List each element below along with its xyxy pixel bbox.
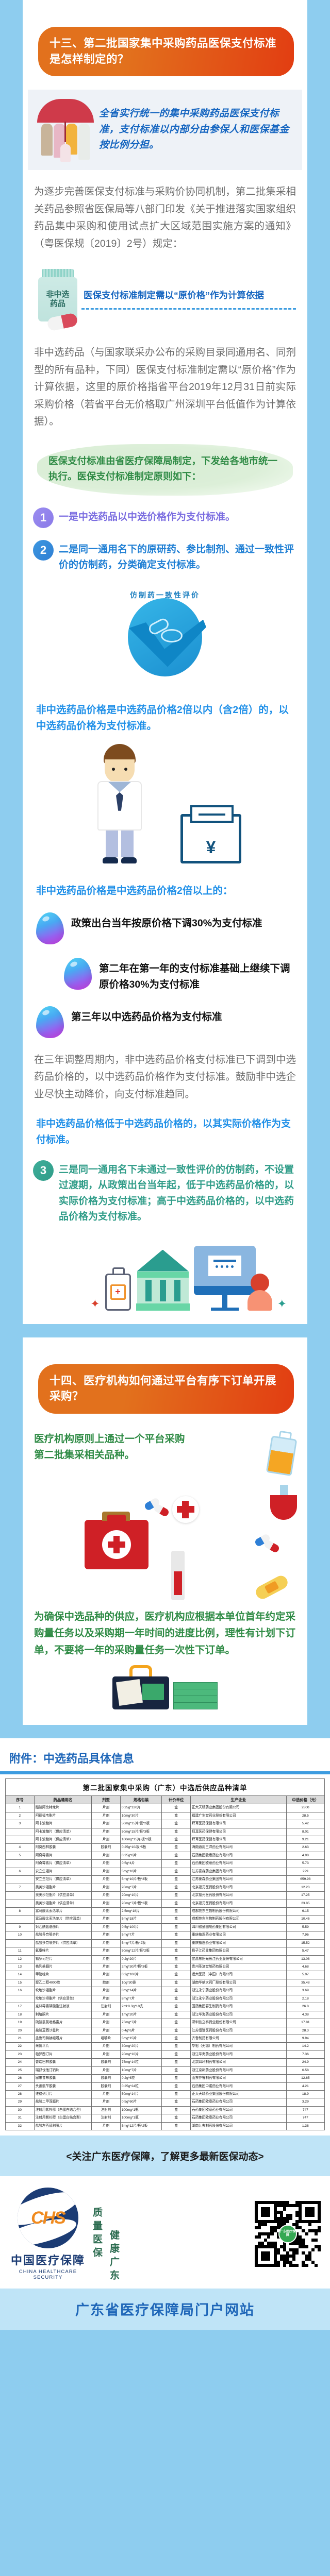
table-cell: 安立生坦片 xyxy=(34,1868,91,1875)
table-cell: 盐酸莫西沙星片 xyxy=(34,2027,91,2035)
briefcase-money-illustration xyxy=(23,1662,307,1725)
table-cell: 盒 xyxy=(162,2035,191,2042)
table-cell: 4.98 xyxy=(286,1852,324,1859)
table-cell: 对乙酰氨基酚片 xyxy=(34,1923,91,1931)
table-cell: 片剂 xyxy=(92,1884,121,1891)
money-stack-icon xyxy=(173,1683,218,1709)
table-cell: 深圳信立泰药业股份有限公司 xyxy=(190,2019,286,2027)
table-cell: 片剂 xyxy=(92,1916,121,1923)
table-cell: 30mg*20片 xyxy=(120,2043,161,2050)
table-cell: 0.4g*6片 xyxy=(120,2027,161,2035)
table-cell: 75mg*14粒 xyxy=(120,2059,161,2066)
qr-center-label: 广东医疗保障 xyxy=(278,2225,297,2243)
table-cell: 盒 xyxy=(162,1916,191,1923)
table-cell: 盒 xyxy=(162,1931,191,1939)
table-cell: 30 xyxy=(6,2106,35,2114)
table-cell: 24.9 xyxy=(286,2059,324,2066)
sparkle-icon: ✦ xyxy=(277,1297,287,1311)
egg-bullet-icon xyxy=(36,1006,64,1038)
table-cell: 米氮平片 xyxy=(34,2043,91,2050)
family-umbrella-illustration xyxy=(32,99,99,161)
bottle-callout-text: 医保支付标准制定需以“原价格”作为计算依据 xyxy=(81,289,296,302)
drug-table-col-header: 规格包装 xyxy=(120,1795,161,1804)
table-cell: 注射剂 xyxy=(92,2003,121,2011)
table-cell: 14 xyxy=(6,1971,35,1979)
table-cell: 23 xyxy=(6,2050,35,2058)
table-cell: 0.2g*100片 xyxy=(120,1971,161,1979)
table-row: 12福多司坦片片剂0.2g*20片盒宜昌东阳光长江药业股份有限公司13.08 xyxy=(6,1955,325,1963)
table-cell: 31 xyxy=(6,2114,35,2122)
table-cell: 浙江永宁药业股份有限公司 xyxy=(190,1987,286,1995)
table-cell xyxy=(6,1828,35,1836)
egg-bullet-icon xyxy=(36,912,64,944)
table-cell: 5 xyxy=(6,1852,35,1859)
table-cell: 盒 xyxy=(162,2019,191,2027)
table-cell xyxy=(6,1836,35,1844)
table-row: 26塞来昔布胶囊胶囊剂0.2g*6粒盒山东齐鲁制药有限公司12.65 xyxy=(6,2075,325,2082)
table-cell: 盐酸二甲双胍片 xyxy=(34,2098,91,2106)
table-cell: 盒 xyxy=(162,1844,191,1852)
table-cell xyxy=(6,1900,35,1907)
table-cell: 20mg*7片 xyxy=(120,1884,161,1891)
table-cell: 9.21 xyxy=(286,1836,324,1844)
table-cell: 0.25g*6片 xyxy=(120,1852,161,1859)
briefcase-icon xyxy=(112,1665,169,1709)
table-cell: 12.23 xyxy=(286,1884,324,1891)
table-cell: 片剂 xyxy=(92,1804,121,1812)
table-cell: 25 xyxy=(6,2066,35,2074)
table-cell: 北京福元医药股份有限公司 xyxy=(190,1900,286,1907)
table-cell: 盒 xyxy=(162,1876,191,1884)
table-cell: 盒 xyxy=(162,1884,191,1891)
table-cell: 片剂 xyxy=(92,2050,121,2058)
government-platform-illustration: ✦ + ✦ xyxy=(23,1236,307,1324)
table-row: 7奥美沙坦酯片片剂20mg*7片盒北京福元医药股份有限公司12.23 xyxy=(6,1884,325,1891)
table-cell: 28.3 xyxy=(286,2027,324,2035)
table-cell: 瑞舒伐他汀钙片 xyxy=(34,2066,91,2074)
table-row: 31注射用紫杉醇（白蛋白结合型）注射剂100mg*1瓶盒石药集团欧意药业有限公司… xyxy=(6,2114,325,2122)
table-row: 28维格列汀片片剂50mg*14片盒正大天晴药业集团股份有限公司18.9 xyxy=(6,2091,325,2098)
consistency-evaluation-badge-wrap: 仿制药一致性评价 xyxy=(23,585,307,692)
table-cell: 4.38 xyxy=(286,2011,324,2019)
table-cell: 50mg*15片/板*2板 xyxy=(120,1820,161,1828)
table-cell: 石药集团欧意药业有限公司 xyxy=(190,2114,286,2122)
consistency-evaluation-icon: 仿制药一致性评价 xyxy=(120,590,210,681)
drug-table-header-row: 序号药品通用名剂型规格包装计价单位生产企业中选价格（元） xyxy=(6,1795,325,1804)
table-cell: 10 xyxy=(6,1931,35,1939)
table-cell: 19 xyxy=(6,2019,35,2027)
table-row: 18利培酮片片剂1mg*20片盒浙江华海药业股份有限公司4.38 xyxy=(6,2011,325,2019)
table-cell: 盒 xyxy=(162,1947,191,1955)
table-cell: 片剂 xyxy=(92,1852,121,1859)
table-cell: 远大医药（中国）有限公司 xyxy=(190,1971,286,1979)
table-cell: 山东齐鲁制药有限公司 xyxy=(190,2075,286,2082)
table-row: 20盐酸莫西沙星片片剂0.4g*6片盒江苏恒瑞医药股份有限公司28.3 xyxy=(6,2027,325,2035)
table-cell xyxy=(6,1939,35,1947)
table-cell: 维格列汀片 xyxy=(34,2091,91,2098)
table-cell: 江苏豪森药业集团有限公司 xyxy=(190,1868,286,1875)
table-cell: 聚乙二醇4000散 xyxy=(34,1979,91,1987)
table-cell: 5mg*10片 xyxy=(120,1868,161,1875)
table-cell: 阿奇霉素片 xyxy=(34,1852,91,1859)
table-cell xyxy=(6,1876,35,1884)
table-cell: 阿卡波糖片 xyxy=(34,1820,91,1828)
table-cell xyxy=(6,1995,35,2003)
government-building-icon xyxy=(137,1250,189,1311)
table-row: 25瑞舒伐他汀钙片片剂10mg*7片盒浙江京新药业股份有限公司6.58 xyxy=(6,2066,325,2074)
table-row: 24普瑞巴林胶囊胶囊剂75mg*14粒盒北京四环制药有限公司24.9 xyxy=(6,2059,325,2066)
table-cell: 盒 xyxy=(162,1820,191,1828)
table-cell: 片剂 xyxy=(92,2066,121,2074)
egg-bullet-2-text: 第二年在第一年的支付标准基础上继续下调原价格30%为支付标准 xyxy=(99,958,294,993)
table-cell: 坎地沙坦酯片 xyxy=(34,1987,91,1995)
table-cell: 石药集团欧意药业有限公司 xyxy=(190,2098,286,2106)
table-row: 8富马酸比索洛尔片片剂2.5mg*18片盒成都苑东生物制药股份有限公司6.15 xyxy=(6,1907,325,1915)
egg-bullet-3-text: 第三年以中选药品价格为支付标准 xyxy=(71,1006,222,1025)
table-cell: 片剂 xyxy=(92,1995,121,2003)
table-cell: 20mg*10片 xyxy=(120,2050,161,2058)
section-14-heading-wrap: 十四、医疗机构如何通过平台有序下订单开展采购？ xyxy=(23,1351,307,1414)
table-cell: 10mg*30片 xyxy=(120,1812,161,1820)
table-cell: 海南通用三洋药业有限公司 xyxy=(190,1844,286,1852)
table-row: 奥美沙坦酯片（供应清单）片剂20mg*7片/板*2板盒北京福元医药股份有限公司2… xyxy=(6,1900,325,1907)
table-cell: 20 xyxy=(6,2027,35,2035)
table-cell: 9.94 xyxy=(286,2035,324,2042)
attachment-section: 附件：中选药品具体信息 第二批国家集中采购（广东）中选后供应品种清单 序号药品通… xyxy=(0,1738,330,2136)
table-cell: 盒 xyxy=(162,2082,191,2090)
table-cell: 阿莫西林胶囊 xyxy=(34,1844,91,1852)
table-cell: 盒 xyxy=(162,1900,191,1907)
chs-logo: CHS 中国医疗保障 CHINA HEALTHCARE SECURITY xyxy=(9,2188,87,2280)
medical-supplies-illustration xyxy=(23,1475,307,1603)
drug-table-col-header: 药品通用名 xyxy=(34,1795,91,1804)
egg-bullet-3: 第三年以中选药品价格为支付标准 xyxy=(23,1006,307,1038)
table-cell: 拜耳医药保健有限公司 xyxy=(190,1836,286,1844)
rule-3-number: 3 xyxy=(33,1160,54,1181)
table-cell: 盒 xyxy=(162,1892,191,1900)
table-cell: 成都苑东生物制药股份有限公司 xyxy=(190,1907,286,1915)
table-row: 14甲硝唑片片剂0.2g*100片盒远大医药（中国）有限公司5.07 xyxy=(6,1971,325,1979)
table-cell: 5.73 xyxy=(286,1860,324,1868)
table-cell: 6.58 xyxy=(286,2066,324,2074)
table-cell: 注射剂 xyxy=(92,2114,121,2122)
drug-table-caption: 第二批国家集中采购（广东）中选后供应品种清单 xyxy=(5,1778,325,1795)
table-cell: 26 xyxy=(6,2075,35,2082)
slogan-health: 健康广东 xyxy=(107,2230,121,2283)
table-cell: 23.85 xyxy=(286,1900,324,1907)
section-13-heading-wrap: 十三、第二批国家集中采购药品医保支付标准是怎样制定的？ xyxy=(23,13,307,76)
dashed-connector xyxy=(81,308,296,310)
user-avatar-icon xyxy=(247,1274,272,1311)
rule-1-text: 一是中选药品以中选价格作为支付标准。 xyxy=(59,507,235,525)
table-cell: 15 xyxy=(6,1979,35,1987)
table-cell: 拜耳医药保健有限公司 xyxy=(190,1828,286,1836)
table-cell: 747 xyxy=(286,2106,324,2114)
table-cell: 29 xyxy=(6,2098,35,2106)
table-cell: 奥美沙坦酯片（供应清单） xyxy=(34,1892,91,1900)
table-cell: 盒 xyxy=(162,1828,191,1836)
table-cell: 阿卡波糖片（供应清单） xyxy=(34,1836,91,1844)
table-cell: 坎地沙坦酯片（供应清单） xyxy=(34,1995,91,2003)
table-cell: 盒 xyxy=(162,2011,191,2019)
table-cell: 奥美沙坦酯片 xyxy=(34,1884,91,1891)
table-row: 32盐酸左西替利嗪片片剂5mg*12片/板*2板盒湖南九典制药股份有限公司1.3… xyxy=(6,2122,325,2130)
rule-item-3: 3 三是同一通用名下未通过一致性评价的仿制药，不设置过渡期，从政策出台当年起，低… xyxy=(23,1160,307,1225)
table-cell: 20mg*7片/板*2板 xyxy=(120,1900,161,1907)
table-cell: 4 xyxy=(6,1844,35,1852)
table-cell: 片剂 xyxy=(92,1931,121,1939)
table-cell: 片剂 xyxy=(92,1939,121,1947)
table-cell: 正大天晴药业集团股份有限公司 xyxy=(190,1804,286,1812)
section-14-intro-text: 医疗机构原则上通过一个平台采购第二批集采相关品种。 xyxy=(34,1431,189,1464)
table-cell: 胶囊剂 xyxy=(92,2082,121,2090)
table-cell: 16 xyxy=(6,1987,35,1995)
table-cell: 4.21 xyxy=(286,2082,324,2090)
drug-table-col-header: 生产企业 xyxy=(190,1795,286,1804)
table-cell: 重庆植恩药业有限公司 xyxy=(190,1939,286,1947)
drug-vial-icon xyxy=(266,1429,300,1476)
table-row: 30注射用紫杉醇（白蛋白结合型）注射剂100mg*1瓶盒石药集团欧意药业有限公司… xyxy=(6,2106,325,2114)
table-cell: 注射剂 xyxy=(92,2106,121,2114)
table-cell: 片剂 xyxy=(92,1900,121,1907)
table-cell: 咀嚼片 xyxy=(92,2035,121,2042)
table-cell: 石药集团欧意药业有限公司 xyxy=(190,1852,286,1859)
table-cell: 醋酸阿比特龙片 xyxy=(34,1804,91,1812)
table-row: 3阿卡波糖片片剂50mg*15片/板*2板盒拜耳医药保健有限公司5.42 xyxy=(6,1820,325,1828)
table-cell: 35.48 xyxy=(286,1979,324,1987)
table-cell: 75mg*7片 xyxy=(120,2019,161,2027)
pill-bottle-icon: 非中选 药品 xyxy=(34,269,81,329)
table-cell: 胶囊剂 xyxy=(92,2059,121,2066)
child-figure xyxy=(60,144,71,162)
syringe-icon xyxy=(171,1551,185,1600)
table-row: 4阿莫西林胶囊胶囊剂0.25g*10/板*5板盒海南通用三洋药业有限公司2.63 xyxy=(6,1844,325,1852)
table-cell: 片剂 xyxy=(92,1892,121,1900)
table-row: 17克林霉素磷酸酯注射液注射剂2ml:0.3g*10支盒国药集团容生制药有限公司… xyxy=(6,2003,325,2011)
section-13-paragraph-2: 非中选药品（与国家联采办公布的采购目录同通用名、同剂型的所有品种，下同）医保支付… xyxy=(23,344,307,431)
table-cell xyxy=(6,1916,35,1923)
table-cell: 27 xyxy=(6,2082,35,2090)
table-cell: 片剂 xyxy=(92,1876,121,1884)
table-cell: 浙江华海药业股份有限公司 xyxy=(190,2050,286,2058)
table-cell: 湖南华纳大药厂股份有限公司 xyxy=(190,1979,286,1987)
table-cell: 片剂 xyxy=(92,1987,121,1995)
table-cell: 盒 xyxy=(162,1971,191,1979)
table-cell: 0.25g*10/板*5板 xyxy=(120,1844,161,1852)
table-cell: 格列美脲片 xyxy=(34,1963,91,1971)
chs-logo-en-text: CHINA HEALTHCARE SECURITY xyxy=(9,2269,87,2280)
table-cell: 克林霉素磷酸酯注射液 xyxy=(34,2003,91,2011)
table-cell: 32 xyxy=(6,2122,35,2130)
table-cell: 盒 xyxy=(162,2027,191,2035)
table-cell: 盒 xyxy=(162,2066,191,2074)
table-cell: 氟康唑片 xyxy=(34,1947,91,1955)
table-cell: 20mg*10片 xyxy=(120,1892,161,1900)
section-13-card: 十三、第二批国家集中采购药品医保支付标准是怎样制定的？ 全省实行统一的集中采购药… xyxy=(23,0,307,1324)
table-cell: 头孢氨苄胶囊 xyxy=(34,2082,91,2090)
table-cell: 盐酸多奈哌齐片 xyxy=(34,1931,91,1939)
infographic-page: 十三、第二批国家集中采购药品医保支付标准是怎样制定的？ 全省实行统一的集中采购药… xyxy=(0,0,330,2330)
bottle-label-line1: 非中选 xyxy=(46,290,69,299)
chs-globe-icon: CHS xyxy=(18,2188,78,2248)
table-cell: 盒 xyxy=(162,1995,191,2003)
egg-bullet-1: 政策出台当年按原价格下调30%为支付标准 xyxy=(23,912,307,944)
section-13-intro-band: 全省实行统一的集中采购药品医保支付标准，支付标准以内部分由参保人和医保基金按比例… xyxy=(28,90,302,170)
table-cell: 片剂 xyxy=(92,1971,121,1979)
table-cell: 18.9 xyxy=(286,2091,324,2098)
table-cell: 0.25g*24粒 xyxy=(120,2082,161,2090)
table-cell: 利培酮片 xyxy=(34,2011,91,2019)
capsule-pills-icon xyxy=(255,1536,282,1555)
table-cell: 10g*30袋 xyxy=(120,1979,161,1987)
bandage-icon xyxy=(254,1573,290,1601)
table-cell: 0.5g*60片 xyxy=(120,2098,161,2106)
table-cell: 奥美沙坦酯片（供应清单） xyxy=(34,1900,91,1907)
table-cell: 浙江华海药业股份有限公司 xyxy=(190,2011,286,2019)
table-row: 阿奇霉素片（供应清单）片剂0.5g*4片盒石药集团欧意药业有限公司5.73 xyxy=(6,1860,325,1868)
table-cell: 5mg*7片/板*2板 xyxy=(120,1939,161,1947)
section-14-card: 十四、医疗机构如何通过平台有序下订单开展采购？ 医疗机构原则上通过一个平台采购第… xyxy=(23,1337,307,1725)
table-cell: 盒 xyxy=(162,2050,191,2058)
table-row: 阿卡波糖片（供应清单）片剂100mg*15片/板*2板盒拜耳医药保健有限公司9.… xyxy=(6,1836,325,1844)
table-cell: 拜耳医药保健有限公司 xyxy=(190,1820,286,1828)
table-cell: 5mg*18片 xyxy=(120,1916,161,1923)
table-row: 22米氮平片片剂30mg*20片盒华裕（无锡）制药有限公司14.2 xyxy=(6,2043,325,2050)
bottle-label-line2: 药品 xyxy=(50,299,65,309)
egg-bullet-2: 第二年在第一年的支付标准基础上继续下调原价格30%为支付标准 xyxy=(23,958,307,993)
table-cell: 盒 xyxy=(162,1868,191,1875)
table-cell: 湖南九典制药股份有限公司 xyxy=(190,2122,286,2130)
table-cell: 8 xyxy=(6,1907,35,1915)
table-cell: 15.52 xyxy=(286,1939,324,1947)
table-cell: 2.5mg*18片 xyxy=(120,1907,161,1915)
table-cell: 17.81 xyxy=(286,2019,324,2027)
table-cell: 片剂 xyxy=(92,1836,121,1844)
table-cell: 片剂 xyxy=(92,2011,121,2019)
table-cell: 盒 xyxy=(162,2091,191,2098)
table-cell: 0.5g*4片 xyxy=(120,1860,161,1868)
table-row: 富马酸比索洛尔片（供应清单）片剂5mg*18片盒成都苑东生物制药股份有限公司10… xyxy=(6,1916,325,1923)
rule-item-1: 1 一是中选药品以中选价格作为支付标准。 xyxy=(23,507,307,528)
table-cell: 28.5 xyxy=(286,1812,324,1820)
table-cell: 10.46 xyxy=(286,1916,324,1923)
chs-logo-letters: CHS xyxy=(31,2208,65,2228)
table-row: 5阿奇霉素片片剂0.25g*6片盒石药集团欧意药业有限公司4.98 xyxy=(6,1852,325,1859)
table-row: 15聚乙二醇4000散散剂10g*30袋盒湖南华纳大药厂股份有限公司35.48 xyxy=(6,1979,325,1987)
table-cell: 100mg*1瓶 xyxy=(120,2114,161,2122)
table-cell: 659.98 xyxy=(286,1876,324,1884)
table-cell: 2ml:0.3g*10支 xyxy=(120,2003,161,2011)
table-cell: 甲硝唑片 xyxy=(34,1971,91,1979)
table-cell: 2800 xyxy=(286,1804,324,1812)
section-14-heading: 十四、医疗机构如何通过平台有序下订单开展采购？ xyxy=(38,1364,294,1414)
table-cell: 硫酸氢氯吡格雷片 xyxy=(34,2019,91,2027)
table-row: 奥美沙坦酯片（供应清单）片剂20mg*10片盒北京福元医药股份有限公司17.25 xyxy=(6,1892,325,1900)
above-2x-statement: 非中选药品价格是中选药品价格2倍以上的： xyxy=(23,883,307,900)
table-cell: 2 xyxy=(6,1812,35,1820)
table-cell: 片剂 xyxy=(92,2043,121,2050)
table-cell: 0.2g*20片 xyxy=(120,1955,161,1963)
table-cell: 富马酸比索洛尔片（供应清单） xyxy=(34,1916,91,1923)
table-row: 27头孢氨苄胶囊胶囊剂0.25g*24粒盒石药集团中诺药业有限公司4.21 xyxy=(6,2082,325,2090)
table-cell: 胶囊剂 xyxy=(92,1844,121,1852)
table-cell: 阿卡波糖片（供应清单） xyxy=(34,1828,91,1836)
table-cell: 17.25 xyxy=(286,1892,324,1900)
table-cell: 盒 xyxy=(162,2106,191,2114)
table-cell: 5.59 xyxy=(286,1923,324,1931)
table-cell: 齐鲁制药有限公司 xyxy=(190,2035,286,2042)
table-cell: 福建广生堂药业股份有限公司 xyxy=(190,1812,286,1820)
slogan-quality: 质量医保 xyxy=(90,2207,104,2261)
table-cell: 片剂 xyxy=(92,2122,121,2130)
table-cell: 3.69 xyxy=(286,1987,324,1995)
table-cell: 盒 xyxy=(162,2098,191,2106)
table-cell: 6.15 xyxy=(286,1907,324,1915)
logo-band: CHS 中国医疗保障 CHINA HEALTHCARE SECURITY 质量医… xyxy=(0,2176,330,2289)
table-cell: 盒 xyxy=(162,1812,191,1820)
medicine-vial-icon: + xyxy=(105,1267,132,1311)
first-aid-kit-icon xyxy=(85,1520,148,1569)
table-cell: 0.5g*100片 xyxy=(120,1923,161,1931)
table-cell: 12 xyxy=(6,1955,35,1963)
computer-monitor-icon xyxy=(194,1246,256,1311)
table-cell: 9 xyxy=(6,1923,35,1931)
table-cell: 扬子江药业集团有限公司 xyxy=(190,1947,286,1955)
section-13-heading: 十三、第二批国家集中采购药品医保支付标准是怎样制定的？ xyxy=(38,27,294,76)
drug-table-wrap: 第二批国家集中采购（广东）中选后供应品种清单 序号药品通用名剂型规格包装计价单位… xyxy=(0,1774,330,2136)
table-cell: 国药集团容生制药有限公司 xyxy=(190,2003,286,2011)
table-cell: 1 xyxy=(6,1804,35,1812)
table-cell: 北京福元医药股份有限公司 xyxy=(190,1892,286,1900)
table-cell: 229 xyxy=(286,1868,324,1875)
table-cell: 5mg*12片/板*2板 xyxy=(120,2122,161,2130)
attachment-title: 附件：中选药品具体信息 xyxy=(0,1738,330,1771)
table-cell: 5mg*7片 xyxy=(120,1931,161,1939)
table-cell: 2mg*30片/板*3板 xyxy=(120,1963,161,1971)
table-cell: 片剂 xyxy=(92,2091,121,2098)
table-cell: 3 xyxy=(6,1820,35,1828)
table-cell: 盒 xyxy=(162,2122,191,2130)
green-note-text: 医保支付标准由省医疗保障局制定，下发给各地市统一执行。医保支付标准制定原则如下： xyxy=(48,453,282,484)
section-14-body-text: 为确保中选品种的供应，医疗机构应根据本单位首年约定采购量任务以及采购期一年时间的… xyxy=(23,1608,307,1659)
table-cell: 宜昌东阳光长江药业股份有限公司 xyxy=(190,1955,286,1963)
table-cell: 28 xyxy=(6,2091,35,2098)
table-cell: 阿德福韦酯片 xyxy=(34,1812,91,1820)
table-cell: 盒 xyxy=(162,1939,191,1947)
table-row: 11氟康唑片片剂50mg*12片/板*2板盒扬子江药业集团有限公司5.47 xyxy=(6,1947,325,1955)
blood-flask-icon xyxy=(270,1485,298,1522)
table-row: 6安立生坦片片剂5mg*10片盒江苏豪森药业集团有限公司229 xyxy=(6,1868,325,1875)
table-cell: 26.8 xyxy=(286,2003,324,2011)
chs-logo-cn-text: 中国医疗保障 xyxy=(9,2251,87,2268)
within-2x-statement: 非中选药品价格是中选药品价格2倍以内（含2倍）的，以中选药品价格为支付标准。 xyxy=(23,702,307,735)
table-row: 安立生坦片（供应清单）片剂5mg*10片/板*3板盒江苏豪森药业集团有限公司65… xyxy=(6,1876,325,1884)
table-cell: 盒 xyxy=(162,2075,191,2082)
table-cell: 盒 xyxy=(162,1804,191,1812)
qr-code[interactable]: 广东医疗保障 xyxy=(255,2201,321,2267)
table-cell: 14.2 xyxy=(286,2043,324,2050)
table-cell: 片剂 xyxy=(92,1947,121,1955)
table-row: 10盐酸多奈哌齐片片剂5mg*7片盒重庆植恩药业有限公司7.96 xyxy=(6,1931,325,1939)
green-highlight-note: 医保支付标准由省医疗保障局制定，下发给各地市统一执行。医保支付标准制定原则如下： xyxy=(37,444,293,496)
table-cell: 正大天晴药业集团股份有限公司 xyxy=(190,2091,286,2098)
table-cell: 5mg*15片 xyxy=(120,2035,161,2042)
table-cell: 22 xyxy=(6,2043,35,2050)
table-row: 29盐酸二甲双胍片片剂0.5g*60片盒石药集团欧意药业有限公司3.29 xyxy=(6,2098,325,2106)
table-row: 9对乙酰氨基酚片片剂0.5g*100片盒四川省通园制药集团有限公司5.59 xyxy=(6,1923,325,1931)
table-cell: 片剂 xyxy=(92,2027,121,2035)
table-cell: 片剂 xyxy=(92,1868,121,1875)
